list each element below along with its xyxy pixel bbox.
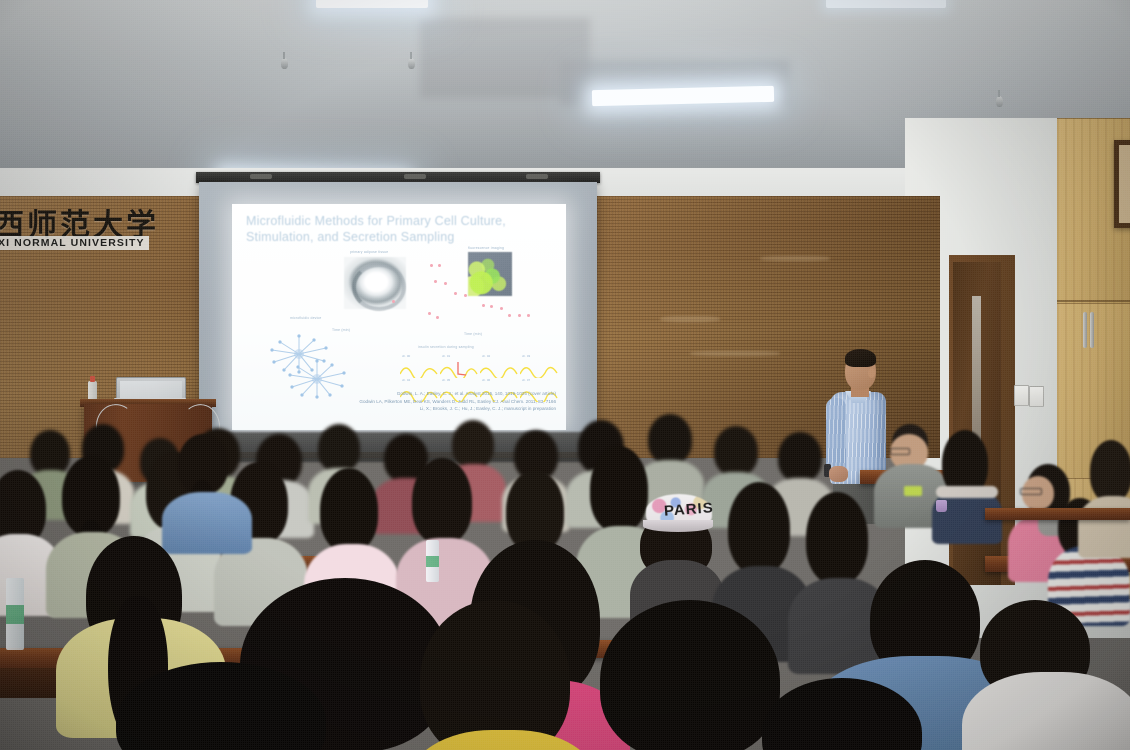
light-switch[interactable] [1029,386,1044,407]
speaker-hand [829,466,848,482]
waveform-label: ch. 07 [522,378,530,382]
slide-axis-right: Time (min) [464,332,482,336]
hair [412,458,472,544]
citation-line: Godwin, L. A.; Easley, C. J.; et al. Ana… [250,390,556,398]
data-point [436,316,439,319]
data-point [392,300,395,303]
slide-citation-block: Godwin, L. A.; Easley, C. J.; et al. Ana… [250,390,556,413]
scarf [936,486,998,498]
hair [600,600,780,750]
university-name-english: XI NORMAL UNIVERSITY [0,236,149,250]
hair [714,426,758,476]
waveform-label: ch. 01 [442,354,450,358]
cap-logo-text: PARIS [663,499,714,519]
waveform-label: ch. 02 [482,354,490,358]
hair [806,492,868,584]
slide-caption-waves: insulin secretion during sampling [418,345,474,349]
screen-mount-clip [250,174,272,179]
wall-scuff [690,351,780,356]
speaker-ear [868,368,875,378]
projector-screen: Microfluidic Methods for Primary Cell Cu… [199,182,597,452]
micrograph-image [344,257,406,309]
ceiling-light-panel [826,0,946,8]
eyeglasses [890,448,910,455]
slide-caption-fluorescence: fluorescence imaging [468,246,504,250]
data-point [508,314,511,317]
torso [162,492,252,554]
data-point [500,307,503,310]
light-switch[interactable] [1014,385,1029,406]
ceiling-light-panel [316,0,428,8]
citation-line: Li, X.; Brooks, J. C.; Hu, J.; Easley, C… [250,405,556,413]
data-point [434,280,437,283]
torso [1078,496,1130,558]
desk-water-bottle[interactable] [426,540,439,582]
cap-brim [643,520,713,532]
hair [648,414,692,464]
citation-line: Godwin LA, Pilkerton ME, Deal KS, Wander… [250,398,556,406]
hair [590,446,648,532]
hair [1090,440,1130,502]
cabinet-handle [1090,312,1094,348]
slide-caption-micrograph: primary adipose tissue [350,250,388,254]
waveform-panel: ch. 02 [480,358,518,380]
shirt-logo [904,486,922,496]
hair [320,468,378,552]
waveform-label: ch. 00 [402,354,410,358]
desk-cup[interactable] [936,500,947,512]
waveform-panel: ch. 00 [400,358,438,380]
data-point [430,264,433,267]
data-point [490,305,493,308]
data-point [527,314,530,317]
presentation-slide: Microfluidic Methods for Primary Cell Cu… [232,204,566,430]
data-point [518,314,521,317]
slide-title: Microfluidic Methods for Primary Cell Cu… [246,213,556,245]
waveform-label: ch. 06 [482,378,490,382]
wall-scuff [660,316,720,322]
university-wall-sign: 西师范大学 XI NORMAL UNIVERSITY [0,200,154,256]
waveform-panel: ch. 01 [440,358,478,380]
cabinet-seam [1057,300,1130,302]
waveform-label: ch. 05 [442,378,450,382]
ceiling-sprinkler [996,96,1003,107]
waveform-label: ch. 03 [522,354,530,358]
desk-water-bottle[interactable] [6,578,24,650]
data-point [454,292,457,295]
speaker-arm [826,398,846,474]
waveform-panel: ch. 03 [520,358,558,380]
screen-mount-clip [404,174,426,179]
screen-mount-clip [526,174,548,179]
lecture-hall-photo: 西师范大学 XI NORMAL UNIVERSITY Microfluidic … [0,0,1130,750]
wall-picture-frame [1114,140,1130,228]
wall-scuff [760,256,830,261]
waveform-label: ch. 04 [402,378,410,382]
data-point [438,264,441,267]
data-point [482,304,485,307]
fluorescence-image [468,252,512,296]
data-point [444,282,447,285]
cabinet-handle [1083,312,1087,348]
speaker-hair [845,349,876,367]
hair [420,600,570,750]
slide-axis-left: Time (min) [332,328,350,332]
student-desk [985,508,1130,520]
hair [318,424,360,472]
hair [728,482,790,574]
hair [778,432,822,482]
data-point [464,294,467,297]
slide-caption-network: microfluidic device [290,316,322,320]
ceiling-sprinkler [281,58,288,69]
eyeglasses [1020,488,1042,495]
hair [452,420,494,468]
data-point [428,312,431,315]
ceiling-sprinkler [408,58,415,69]
